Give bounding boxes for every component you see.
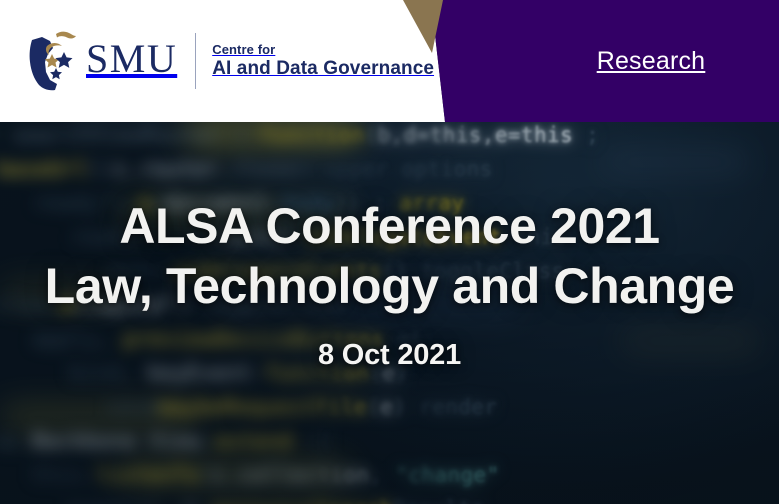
hero-date: 8 Oct 2021 [0,339,779,372]
hero-title-line1: ALSA Conference 2021 [0,196,779,256]
smu-wordmark: SMU [86,39,177,83]
logo-divider [195,33,196,89]
site-header: SMU Centre for AI and Data Governance Re… [0,0,779,122]
nav-item-research[interactable]: Research [539,0,779,122]
centre-name-line1: Centre for [212,43,434,58]
smu-logo-link[interactable]: SMU Centre for AI and Data Governance [26,26,434,96]
page-root: var searchViewRouter = function(b,d=this… [0,0,779,504]
hero-title-line2: Law, Technology and Change [0,256,779,316]
centre-name-block: Centre for AI and Data Governance [212,43,434,80]
hero-text-block: ALSA Conference 2021 Law, Technology and… [0,196,779,372]
smu-singapore-star-mark-icon [26,28,78,94]
centre-name-line2: AI and Data Governance [212,58,434,79]
